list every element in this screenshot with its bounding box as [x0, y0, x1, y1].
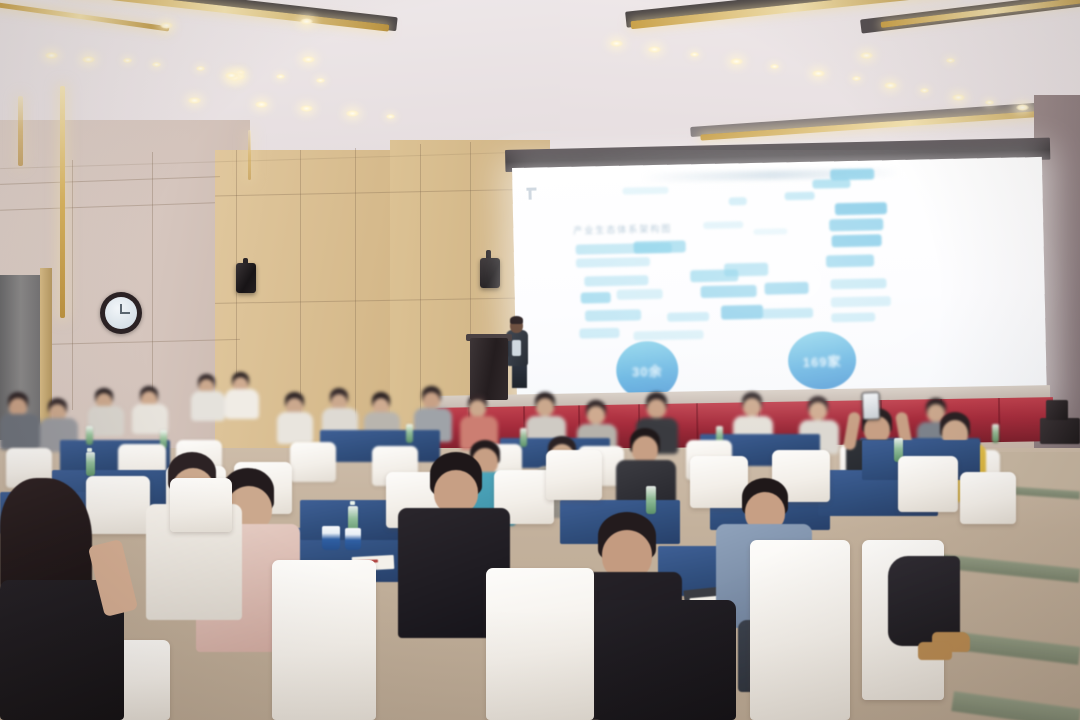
diagram-box [812, 179, 850, 189]
water-bottle [406, 424, 413, 443]
chair [86, 476, 150, 534]
paper-cup [345, 528, 361, 550]
diagram-box [584, 275, 648, 286]
water-bottle [992, 424, 999, 443]
diagram-box [835, 202, 887, 215]
conference-hall-photo: 产业生态体系架构图 30余 169家 [0, 0, 1080, 720]
water-bottle [86, 452, 95, 476]
av-stand [1046, 400, 1068, 420]
left-wall-speaker [236, 263, 256, 293]
diagram-box [785, 192, 815, 201]
diagram-box [633, 330, 703, 340]
diagram-box [830, 278, 886, 289]
diagram-box [667, 312, 709, 322]
projection-screen: 产业生态体系架构图 30余 169家 [512, 157, 1047, 416]
clock-face [105, 297, 137, 329]
diagram-box [826, 254, 874, 267]
diagram-box [701, 285, 757, 298]
bottle-cap [87, 448, 92, 452]
smartphone [862, 392, 881, 421]
diagram-box [764, 282, 808, 295]
chair [170, 478, 232, 532]
diagram-box [831, 312, 875, 322]
vertical-light-strip-far-left [18, 96, 23, 166]
diagram-box [831, 234, 881, 247]
diagram-box [622, 187, 668, 195]
diagram-box [617, 289, 663, 300]
diagram-box [724, 263, 768, 277]
diagram-box [634, 240, 686, 253]
slide-title: 产业生态体系架构图 [573, 222, 672, 237]
right-wall-speaker [480, 258, 500, 288]
diagram-box [581, 292, 611, 304]
vertical-light-strip-left [60, 86, 65, 318]
diagram-box [721, 305, 763, 320]
chair [960, 472, 1016, 524]
lectern [470, 338, 508, 400]
diagram-box [829, 218, 883, 231]
wall-clock [100, 292, 142, 334]
person-head [632, 436, 658, 463]
av-equipment-case [1040, 418, 1080, 444]
person-in-dark-shirt [596, 600, 736, 720]
paper-cup [322, 526, 340, 550]
slide-badge-right: 169家 [788, 331, 857, 390]
brand-logo-icon [524, 185, 538, 201]
diagram-box [576, 257, 650, 268]
chair [290, 442, 336, 482]
shoe [918, 642, 952, 660]
chair [546, 450, 602, 500]
water-bottle [520, 428, 527, 447]
chair [486, 568, 594, 720]
diagram-box [761, 308, 813, 319]
chair [272, 560, 376, 720]
water-bottle [86, 426, 93, 445]
diagram-box [729, 197, 747, 205]
diagram-box [703, 221, 743, 229]
diagram-box [830, 168, 874, 180]
water-bottle [646, 486, 656, 514]
vertical-light-strip-mid [248, 130, 251, 180]
badge-right-value: 169家 [803, 351, 842, 371]
chair [750, 540, 850, 720]
chair [898, 456, 958, 512]
chair [690, 456, 748, 508]
badge-left-value: 30余 [632, 360, 663, 380]
diagram-box [831, 296, 891, 307]
bottle-cap [350, 501, 355, 505]
diagram-box [585, 309, 641, 321]
diagram-box [753, 228, 787, 235]
diagram-box [579, 328, 619, 339]
